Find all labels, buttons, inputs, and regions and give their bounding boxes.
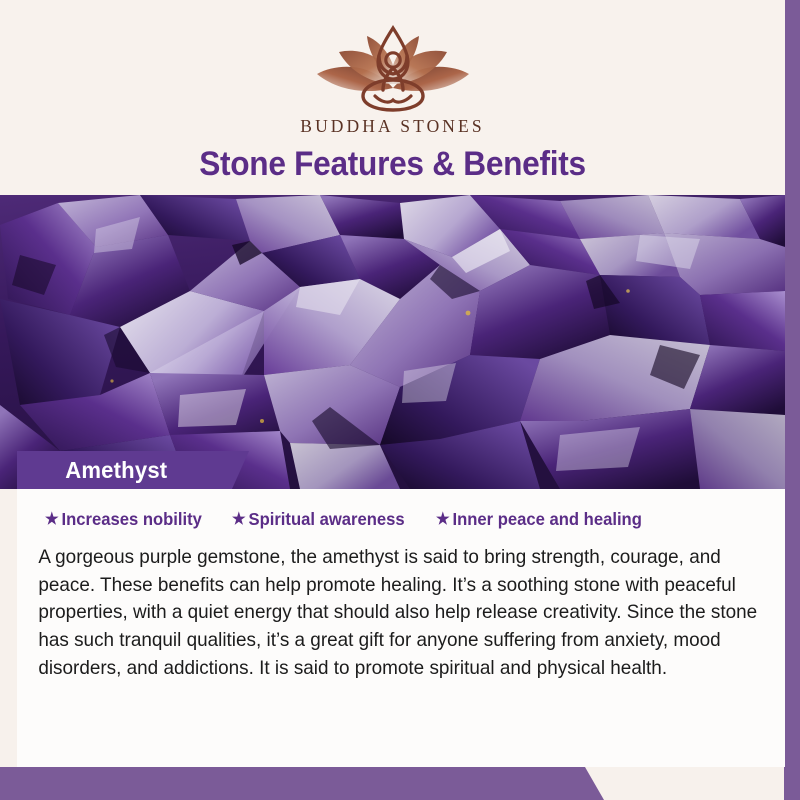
description-text: A gorgeous purple gemstone, the amethyst…	[17, 530, 785, 682]
benefit-label: Spiritual awareness	[249, 509, 405, 530]
hero-image	[0, 195, 785, 489]
benefit-item-3: ★ Inner peace and healing	[436, 509, 642, 530]
frame-right-band	[784, 0, 800, 800]
benefit-label: Inner peace and healing	[452, 509, 641, 530]
frame-bottom-band	[0, 767, 800, 800]
stone-name-text: Amethyst	[20, 457, 167, 484]
content-panel: ★ Increases nobility ★ Spiritual awarene…	[17, 489, 785, 767]
product-info-card: BUDDHA STONES Stone Features & Benefits	[0, 0, 785, 767]
brand-wordmark: BUDDHA STONES	[300, 116, 484, 137]
page-title: Stone Features & Benefits	[27, 145, 757, 184]
star-icon: ★	[45, 512, 59, 528]
stone-name-banner: Amethyst	[17, 451, 249, 489]
benefit-item-1: ★ Increases nobility	[45, 509, 202, 530]
star-icon: ★	[436, 512, 450, 528]
lotus-meditation-icon	[309, 22, 477, 112]
benefits-list: ★ Increases nobility ★ Spiritual awarene…	[17, 489, 785, 530]
amethyst-crystal-photo	[0, 195, 785, 489]
benefit-label: Increases nobility	[61, 509, 201, 530]
star-icon: ★	[232, 512, 246, 528]
card-header: BUDDHA STONES Stone Features & Benefits	[0, 0, 785, 195]
benefit-item-2: ★ Spiritual awareness	[232, 509, 405, 530]
brand-logo: BUDDHA STONES	[0, 22, 785, 137]
